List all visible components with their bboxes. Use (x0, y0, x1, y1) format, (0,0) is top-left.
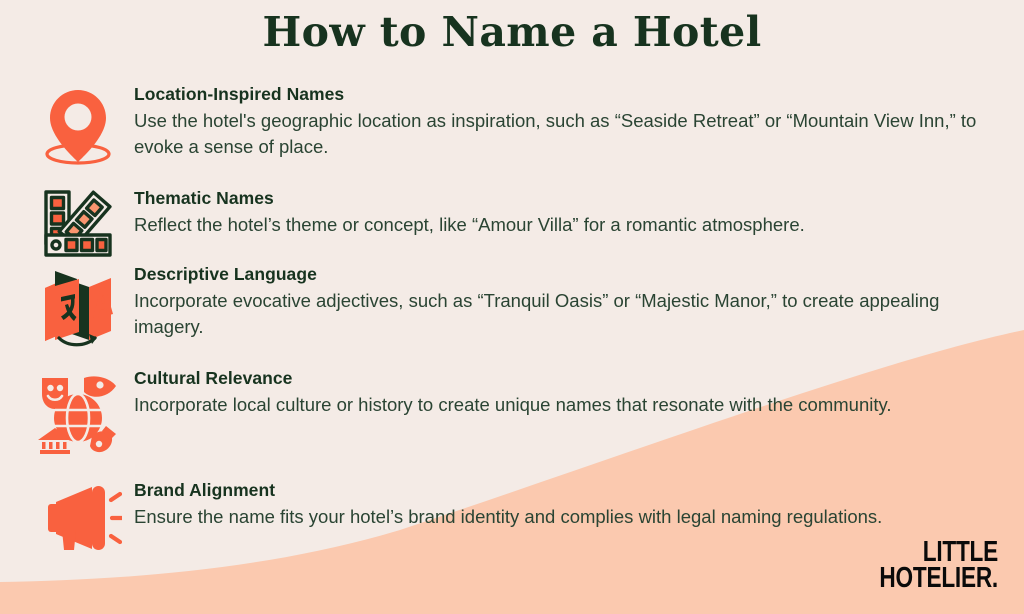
translate-language-icon (35, 266, 121, 354)
list-item: Descriptive Language Incorporate evocati… (26, 264, 1006, 354)
culture-globe-icon (34, 370, 122, 458)
text-cell: Location-Inspired Names Use the hotel's … (130, 84, 1006, 161)
item-title: Thematic Names (134, 188, 1006, 209)
icon-cell (26, 84, 130, 168)
item-title: Brand Alignment (134, 480, 1006, 501)
location-pin-icon (39, 86, 117, 168)
item-title: Descriptive Language (134, 264, 1006, 285)
item-title: Cultural Relevance (134, 368, 1006, 389)
item-description: Ensure the name fits your hotel’s brand … (134, 504, 994, 530)
icon-cell (26, 368, 130, 458)
item-description: Reflect the hotel’s theme or concept, li… (134, 212, 994, 238)
logo-line-1: LITTLE (879, 539, 998, 566)
color-swatch-palette-icon (38, 190, 118, 258)
content-layer: How to Name a Hotel Location-Inspired Na… (0, 0, 1024, 614)
item-title: Location-Inspired Names (134, 84, 1006, 105)
megaphone-icon (34, 482, 122, 556)
list-item: Cultural Relevance Incorporate local cul… (26, 368, 1006, 458)
item-description: Use the hotel's geographic location as i… (134, 108, 994, 161)
text-cell: Brand Alignment Ensure the name fits you… (130, 480, 1006, 530)
text-cell: Descriptive Language Incorporate evocati… (130, 264, 1006, 341)
infographic-canvas: How to Name a Hotel Location-Inspired Na… (0, 0, 1024, 614)
list-item: Thematic Names Reflect the hotel’s theme… (26, 188, 1006, 258)
item-description: Incorporate local culture or history to … (134, 392, 994, 418)
page-title: How to Name a Hotel (0, 8, 1024, 56)
icon-cell (26, 480, 130, 556)
logo-line-2: HOTELIER. (879, 565, 998, 592)
item-description: Incorporate evocative adjectives, such a… (134, 288, 994, 341)
list-item: Location-Inspired Names Use the hotel's … (26, 84, 1006, 168)
little-hotelier-logo: LITTLE HOTELIER. (846, 539, 998, 592)
text-cell: Thematic Names Reflect the hotel’s theme… (130, 188, 1006, 238)
icon-cell (26, 264, 130, 354)
icon-cell (26, 188, 130, 258)
text-cell: Cultural Relevance Incorporate local cul… (130, 368, 1006, 418)
